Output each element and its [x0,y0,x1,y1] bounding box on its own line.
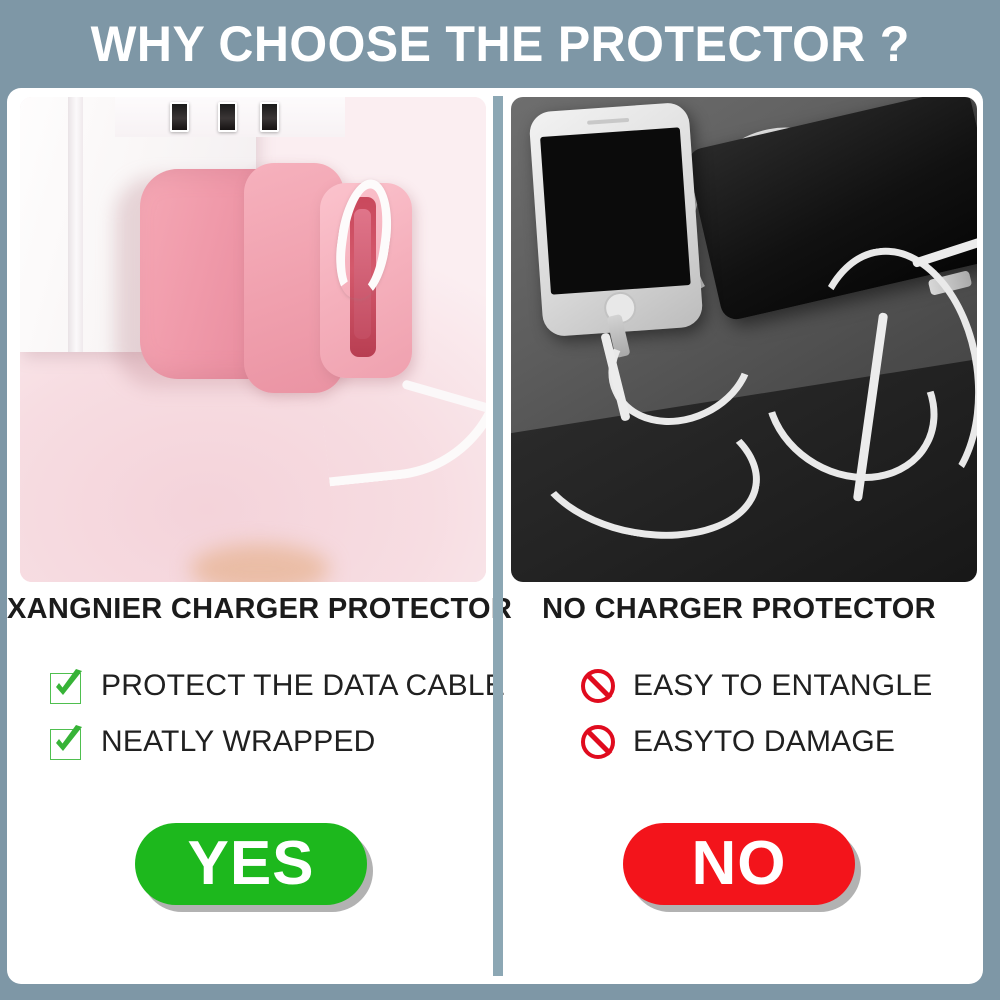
cable-tail [311,288,486,487]
panel-heading-with-protector: XANGNIER CHARGER PROTECTOR [7,593,495,626]
verdict-badge-no: NO [623,823,855,905]
tangle-scene [511,97,977,582]
phone-speaker [587,118,629,125]
outlet-faceplate-edge [68,97,83,352]
feature-item: NEATLY WRAPPED [49,714,495,770]
usb-port-icon [170,102,189,132]
feature-label: EASY TO ENTANGLE [633,669,932,703]
verdict-zone-no: NO [495,823,983,905]
prohibition-icon [579,723,617,761]
feature-label: NEATLY WRAPPED [101,725,376,759]
panel-without-protector: NO CHARGER PROTECTOR EASY TO ENTANGLE EA… [495,88,983,984]
photo-bottom-blur [190,544,330,582]
panel-heading-without-protector: NO CHARGER PROTECTOR [495,593,983,626]
feature-item: PROTECT THE DATA CABLE [49,658,495,714]
feature-item: EASYTO DAMAGE [579,714,983,770]
feature-label: PROTECT THE DATA CABLE [101,669,505,703]
feature-label: EASYTO DAMAGE [633,725,895,759]
panel-with-protector: XANGNIER CHARGER PROTECTOR PROTECT THE D… [7,88,495,984]
charger-scene [20,97,486,582]
feature-list-with-protector: PROTECT THE DATA CABLE NEATLY WRAPPED [7,658,495,770]
comparison-columns: XANGNIER CHARGER PROTECTOR PROTECT THE D… [7,88,983,984]
check-icon [49,724,85,760]
prohibition-icon [579,667,617,705]
usb-port-icon [260,102,279,132]
phone-screen [540,127,691,294]
usb-port-icon [218,102,237,132]
page-title-bar: WHY CHOOSE THE PROTECTOR ? [0,0,1000,88]
tangled-cables-photo [511,97,977,582]
page-title: WHY CHOOSE THE PROTECTOR ? [90,19,909,69]
protector-product-photo [20,97,486,582]
feature-list-without-protector: EASY TO ENTANGLE EASYTO DAMAGE [495,658,983,770]
feature-item: EASY TO ENTANGLE [579,658,983,714]
verdict-badge-no-label: NO [692,833,787,895]
verdict-zone-yes: YES [7,823,495,905]
comparison-card: XANGNIER CHARGER PROTECTOR PROTECT THE D… [7,88,983,984]
verdict-badge-yes: YES [135,823,367,905]
check-icon [49,668,85,704]
verdict-badge-yes-label: YES [187,833,314,895]
